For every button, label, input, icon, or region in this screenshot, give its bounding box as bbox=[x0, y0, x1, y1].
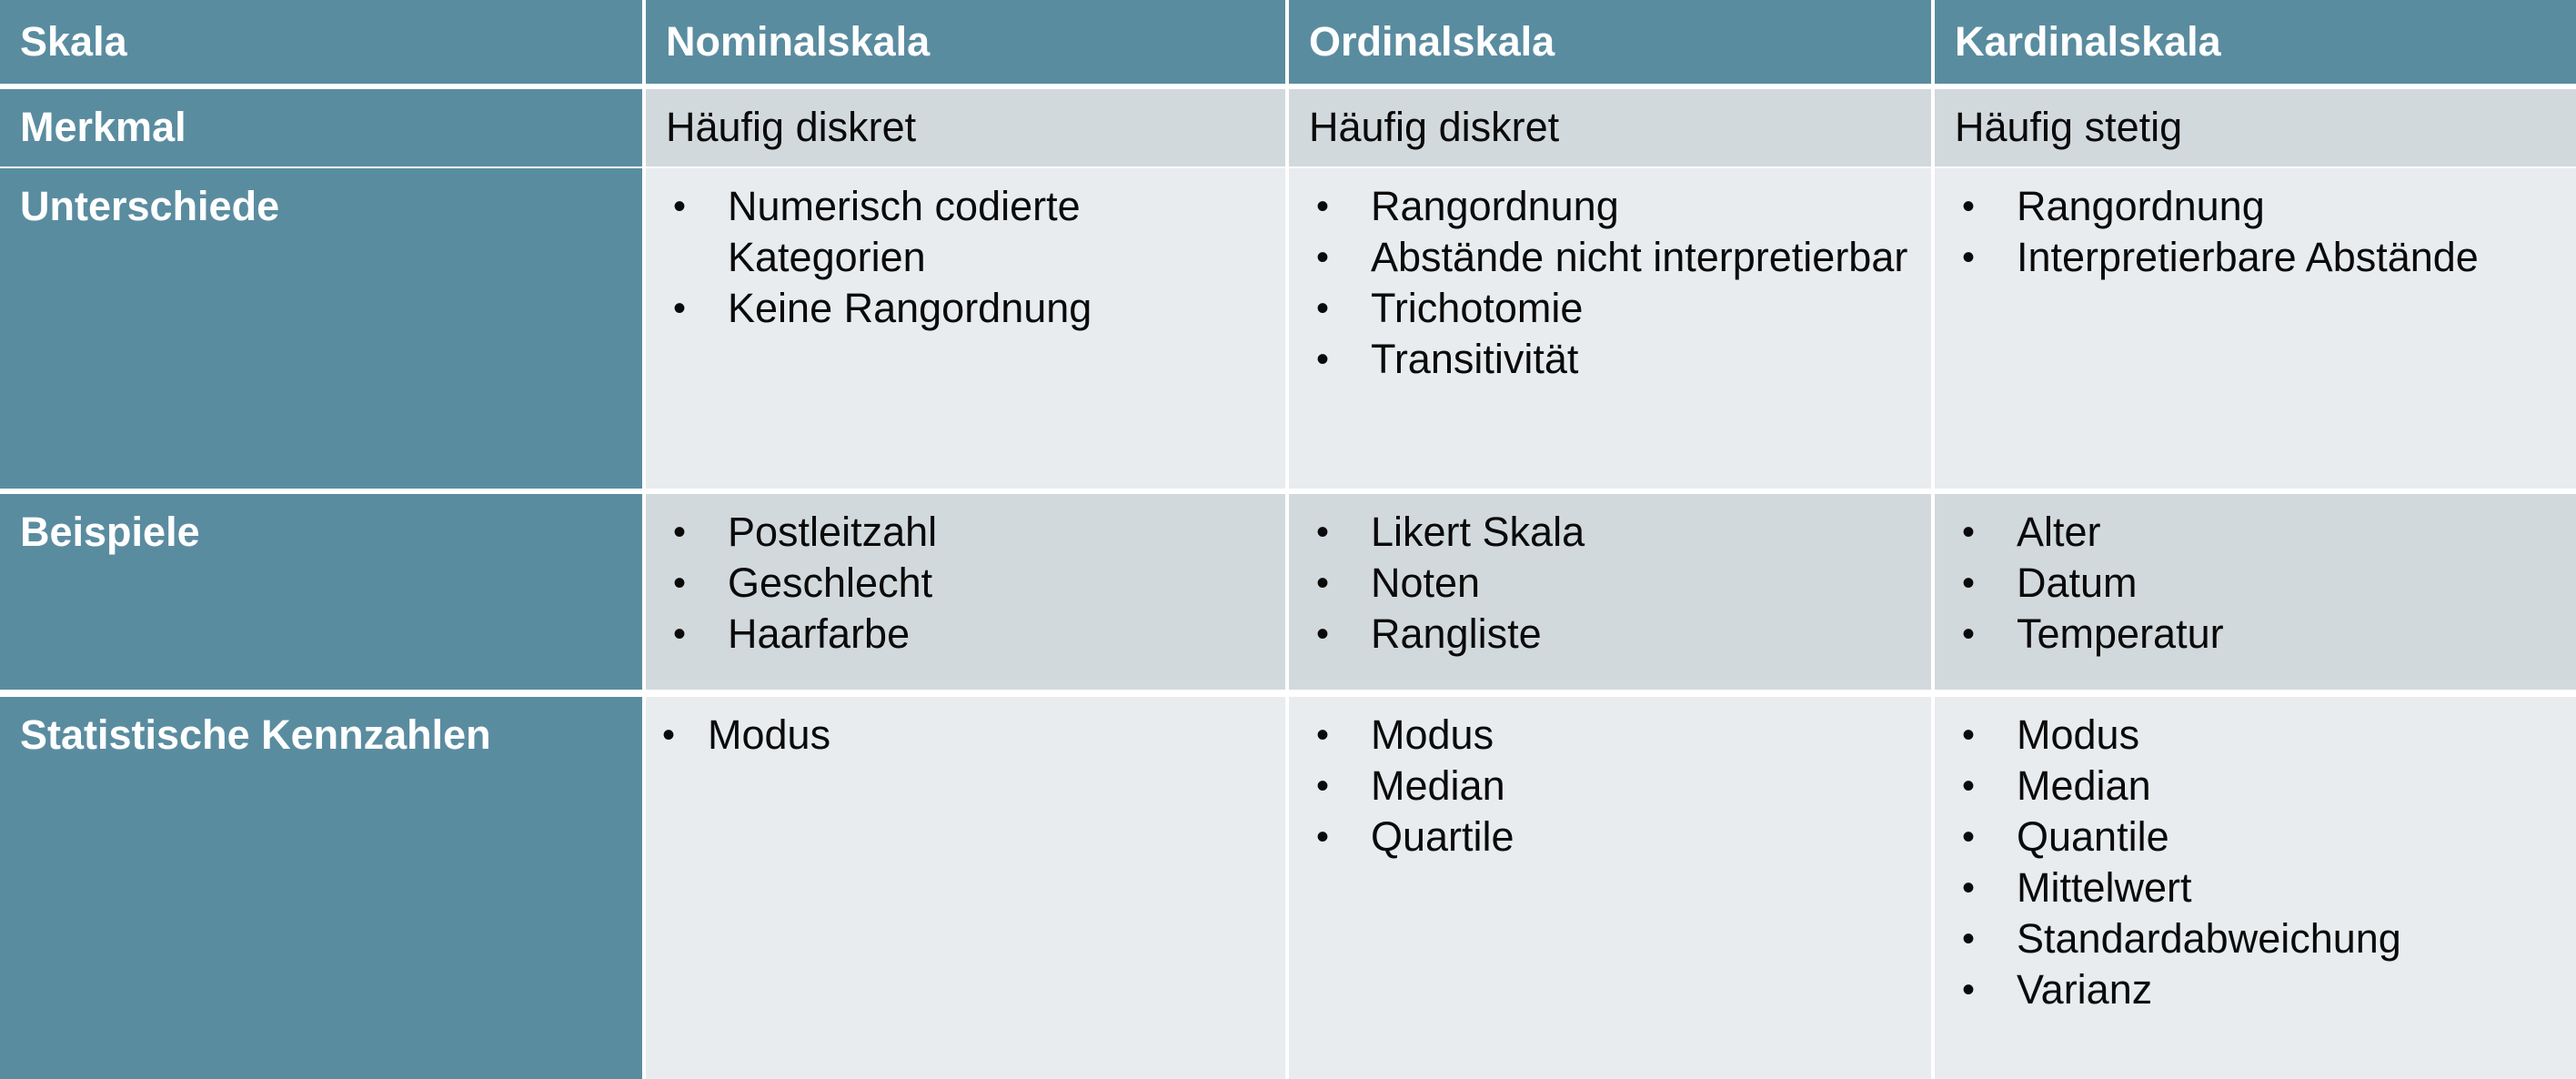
bullet-glyph-icon: • bbox=[673, 609, 700, 660]
bullet-item: •Mittelwert bbox=[1957, 862, 2560, 913]
row-label-cell: Unterschiede bbox=[0, 168, 642, 489]
table-row-beispiele: Beispiele •Postleitzahl•Geschlecht•Haarf… bbox=[0, 494, 2576, 690]
bullet-glyph-icon: • bbox=[1962, 862, 1989, 913]
bullet-text: Standardabweichung bbox=[2017, 913, 2560, 964]
bullet-text: Haarfarbe bbox=[728, 609, 1269, 660]
bullet-glyph-icon: • bbox=[662, 710, 689, 761]
bullet-glyph-icon: • bbox=[673, 181, 700, 232]
bullet-item: •Modus bbox=[1311, 710, 1915, 761]
bullet-glyph-icon: • bbox=[1962, 913, 1989, 964]
bullet-glyph-icon: • bbox=[1316, 558, 1343, 609]
bullet-list: •Postleitzahl•Geschlecht•Haarfarbe bbox=[646, 494, 1285, 660]
bullet-text: Quartile bbox=[1371, 812, 1915, 862]
row-label-cell: Statistische Kennzahlen bbox=[0, 697, 642, 1079]
header-cell-kardinalskala: Kardinalskala bbox=[1935, 0, 2576, 84]
bullet-glyph-icon: • bbox=[1962, 761, 1989, 812]
bullet-text: Postleitzahl bbox=[728, 507, 1269, 558]
bullet-glyph-icon: • bbox=[1962, 507, 1989, 558]
cell-merkmal-ordinalskala: Häufig diskret bbox=[1289, 89, 1931, 166]
bullet-text: Likert Skala bbox=[1371, 507, 1915, 558]
bullet-glyph-icon: • bbox=[673, 507, 700, 558]
table-row-merkmal: Merkmal Häufig diskret Häufig diskret Hä… bbox=[0, 89, 2576, 166]
bullet-text: Mittelwert bbox=[2017, 862, 2560, 913]
bullet-glyph-icon: • bbox=[1316, 609, 1343, 660]
bullet-item: •Rangordnung bbox=[1311, 181, 1915, 232]
cell-kennzahlen-nominalskala: •Modus bbox=[646, 697, 1285, 1079]
cell-beispiele-kardinalskala: •Alter•Datum•Temperatur bbox=[1935, 494, 2576, 690]
cell-merkmal-kardinalskala: Häufig stetig bbox=[1935, 89, 2576, 166]
bullet-glyph-icon: • bbox=[1316, 710, 1343, 761]
bullet-item: •Standardabweichung bbox=[1957, 913, 2560, 964]
bullet-text: Quantile bbox=[2017, 812, 2560, 862]
cell-unterschiede-kardinalskala: •Rangordnung•Interpretierbare Abstände bbox=[1935, 168, 2576, 489]
bullet-list: •Rangordnung•Abstände nicht interpretier… bbox=[1289, 168, 1931, 385]
bullet-glyph-icon: • bbox=[1316, 761, 1343, 812]
bullet-text: Numerisch codierte Kategorien bbox=[728, 181, 1269, 283]
bullet-item: •Postleitzahl bbox=[668, 507, 1269, 558]
bullet-glyph-icon: • bbox=[673, 558, 700, 609]
bullet-glyph-icon: • bbox=[1962, 558, 1989, 609]
row-label: Unterschiede bbox=[0, 168, 642, 232]
bullet-text: Modus bbox=[1371, 710, 1915, 761]
bullet-text: Temperatur bbox=[2017, 609, 2560, 660]
bullet-item: •Haarfarbe bbox=[668, 609, 1269, 660]
bullet-text: Median bbox=[2017, 761, 2560, 812]
bullet-item: •Interpretierbare Abstände bbox=[1957, 232, 2560, 283]
bullet-glyph-icon: • bbox=[673, 283, 700, 334]
bullet-text: Rangordnung bbox=[1371, 181, 1915, 232]
row-label: Beispiele bbox=[0, 494, 642, 558]
row-label: Statistische Kennzahlen bbox=[0, 697, 642, 761]
bullet-item: •Quantile bbox=[1957, 812, 2560, 862]
row-divider bbox=[0, 690, 2576, 697]
bullet-text: Median bbox=[1371, 761, 1915, 812]
bullet-item: •Rangordnung bbox=[1957, 181, 2560, 232]
bullet-item: •Modus bbox=[1957, 710, 2560, 761]
column-header-label: Kardinalskala bbox=[1935, 0, 2576, 84]
bullet-text: Keine Rangordnung bbox=[728, 283, 1269, 334]
bullet-glyph-icon: • bbox=[1962, 181, 1989, 232]
row-label: Merkmal bbox=[0, 89, 642, 153]
bullet-glyph-icon: • bbox=[1962, 812, 1989, 862]
bullet-text: Rangliste bbox=[1371, 609, 1915, 660]
column-header-label: Skala bbox=[0, 0, 642, 84]
cell-value: Häufig diskret bbox=[646, 89, 1285, 153]
bullet-item: •Numerisch codierte Kategorien bbox=[668, 181, 1269, 283]
bullet-glyph-icon: • bbox=[1962, 964, 1989, 1015]
bullet-glyph-icon: • bbox=[1316, 507, 1343, 558]
header-cell-ordinalskala: Ordinalskala bbox=[1289, 0, 1931, 84]
cell-merkmal-nominalskala: Häufig diskret bbox=[646, 89, 1285, 166]
bullet-list: •Modus•Median•Quantile•Mittelwert•Standa… bbox=[1935, 697, 2576, 1015]
bullet-text: Trichotomie bbox=[1371, 283, 1915, 334]
bullet-list: •Rangordnung•Interpretierbare Abstände bbox=[1935, 168, 2576, 283]
column-header-label: Nominalskala bbox=[646, 0, 1285, 84]
bullet-item: •Median bbox=[1311, 761, 1915, 812]
bullet-text: Interpretierbare Abstände bbox=[2017, 232, 2560, 283]
bullet-list: •Modus bbox=[646, 697, 1285, 761]
bullet-item: •Transitivität bbox=[1311, 334, 1915, 385]
cell-beispiele-ordinalskala: •Likert Skala•Noten•Rangliste bbox=[1289, 494, 1931, 690]
bullet-text: Modus bbox=[2017, 710, 2560, 761]
bullet-item: •Median bbox=[1957, 761, 2560, 812]
row-label-cell: Merkmal bbox=[0, 89, 642, 166]
bullet-item: •Geschlecht bbox=[668, 558, 1269, 609]
bullet-text: Modus bbox=[708, 710, 1269, 761]
bullet-glyph-icon: • bbox=[1962, 609, 1989, 660]
bullet-text: Transitivität bbox=[1371, 334, 1915, 385]
bullet-item: •Alter bbox=[1957, 507, 2560, 558]
bullet-glyph-icon: • bbox=[1316, 334, 1343, 385]
bullet-item: •Abstände nicht interpretierbar bbox=[1311, 232, 1915, 283]
cell-kennzahlen-kardinalskala: •Modus•Median•Quantile•Mittelwert•Standa… bbox=[1935, 697, 2576, 1079]
bullet-list: •Numerisch codierte Kategorien•Keine Ran… bbox=[646, 168, 1285, 334]
bullet-text: Abstände nicht interpretierbar bbox=[1371, 232, 1915, 283]
bullet-list: •Likert Skala•Noten•Rangliste bbox=[1289, 494, 1931, 660]
bullet-item: •Varianz bbox=[1957, 964, 2560, 1015]
bullet-glyph-icon: • bbox=[1316, 181, 1343, 232]
bullet-item: •Temperatur bbox=[1957, 609, 2560, 660]
cell-unterschiede-nominalskala: •Numerisch codierte Kategorien•Keine Ran… bbox=[646, 168, 1285, 489]
bullet-item: •Rangliste bbox=[1311, 609, 1915, 660]
bullet-glyph-icon: • bbox=[1316, 283, 1343, 334]
table-header-row: Skala Nominalskala Ordinalskala Kardinal… bbox=[0, 0, 2576, 84]
cell-beispiele-nominalskala: •Postleitzahl•Geschlecht•Haarfarbe bbox=[646, 494, 1285, 690]
cell-kennzahlen-ordinalskala: •Modus•Median•Quartile bbox=[1289, 697, 1931, 1079]
bullet-text: Alter bbox=[2017, 507, 2560, 558]
bullet-item: •Keine Rangordnung bbox=[668, 283, 1269, 334]
bullet-item: •Likert Skala bbox=[1311, 507, 1915, 558]
cell-value: Häufig diskret bbox=[1289, 89, 1931, 153]
bullet-item: •Trichotomie bbox=[1311, 283, 1915, 334]
column-header-label: Ordinalskala bbox=[1289, 0, 1931, 84]
bullet-glyph-icon: • bbox=[1316, 232, 1343, 283]
bullet-item: •Datum bbox=[1957, 558, 2560, 609]
bullet-text: Geschlecht bbox=[728, 558, 1269, 609]
cell-unterschiede-ordinalskala: •Rangordnung•Abstände nicht interpretier… bbox=[1289, 168, 1931, 489]
cell-value: Häufig stetig bbox=[1935, 89, 2576, 153]
bullet-text: Rangordnung bbox=[2017, 181, 2560, 232]
table-row-statistische-kennzahlen: Statistische Kennzahlen •Modus •Modus•Me… bbox=[0, 697, 2576, 1079]
bullet-glyph-icon: • bbox=[1962, 232, 1989, 283]
bullet-glyph-icon: • bbox=[1316, 812, 1343, 862]
bullet-list: •Alter•Datum•Temperatur bbox=[1935, 494, 2576, 660]
bullet-text: Noten bbox=[1371, 558, 1915, 609]
bullet-item: •Noten bbox=[1311, 558, 1915, 609]
bullet-glyph-icon: • bbox=[1962, 710, 1989, 761]
row-label-cell: Beispiele bbox=[0, 494, 642, 690]
bullet-text: Varianz bbox=[2017, 964, 2560, 1015]
bullet-text: Datum bbox=[2017, 558, 2560, 609]
scale-comparison-table: Skala Nominalskala Ordinalskala Kardinal… bbox=[0, 0, 2576, 1079]
header-cell-nominalskala: Nominalskala bbox=[646, 0, 1285, 84]
table-row-unterschiede: Unterschiede •Numerisch codierte Kategor… bbox=[0, 168, 2576, 489]
bullet-item: •Quartile bbox=[1311, 812, 1915, 862]
header-cell-skala: Skala bbox=[0, 0, 642, 84]
bullet-item: •Modus bbox=[660, 710, 1269, 761]
bullet-list: •Modus•Median•Quartile bbox=[1289, 697, 1931, 862]
